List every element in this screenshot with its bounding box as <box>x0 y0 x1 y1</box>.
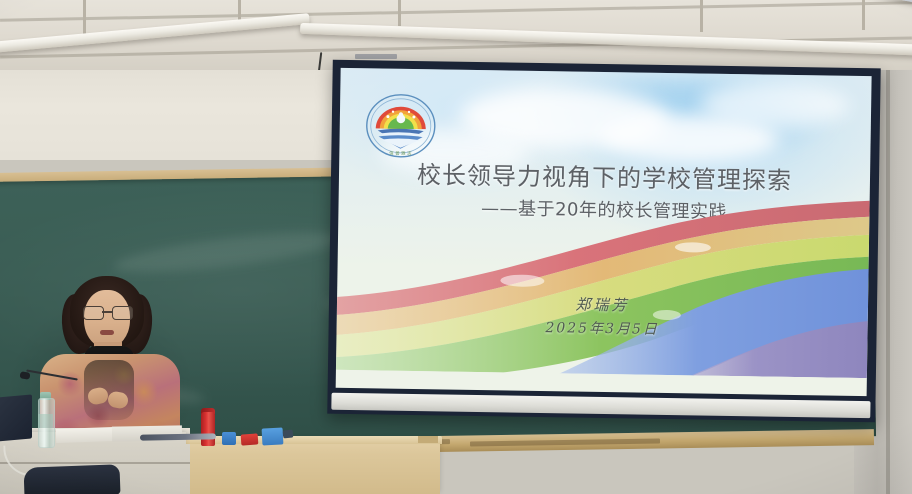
projection-screen-frame: 信 善 雅 志 校长领导力视角下的学校管理探索 ——基于20年的校长管理实践 <box>327 60 880 423</box>
light-hanger-rod <box>862 0 865 30</box>
light-fixture-label <box>355 54 397 59</box>
school-emblem-logo: 信 善 雅 志 <box>363 92 438 159</box>
bag[interactable] <box>24 464 121 494</box>
laptop[interactable] <box>0 394 32 441</box>
wall-seam <box>886 70 890 494</box>
light-hanger-rod <box>700 0 703 32</box>
papers[interactable] <box>56 427 114 443</box>
classroom-scene: 信 善 雅 志 校长领导力视角下的学校管理探索 ——基于20年的校长管理实践 <box>0 0 912 494</box>
red-eraser[interactable] <box>241 433 259 445</box>
glasses-icon <box>83 306 131 318</box>
screen-bottom-tray <box>331 393 870 418</box>
wooden-desk <box>186 440 440 494</box>
light-hanger-rod <box>398 0 401 26</box>
chalk-smudge <box>112 225 344 280</box>
bottle-label <box>38 414 53 428</box>
blue-eraser[interactable] <box>222 432 236 445</box>
microphone[interactable] <box>19 371 30 380</box>
mouth <box>100 330 114 335</box>
desk-corner <box>418 436 438 443</box>
glasses-lens-right <box>112 306 133 320</box>
rainbow-road-graphic <box>336 190 870 378</box>
glasses-lens-left <box>83 306 104 320</box>
presentation-slide[interactable]: 信 善 雅 志 校长领导力视角下的学校管理探索 ——基于20年的校长管理实践 <box>336 68 872 396</box>
red-thermos[interactable] <box>201 412 215 446</box>
glasses-bridge <box>102 311 112 313</box>
light-hanger-rod <box>83 0 86 34</box>
dark-object[interactable] <box>283 429 294 438</box>
blue-eraser[interactable] <box>262 427 284 445</box>
